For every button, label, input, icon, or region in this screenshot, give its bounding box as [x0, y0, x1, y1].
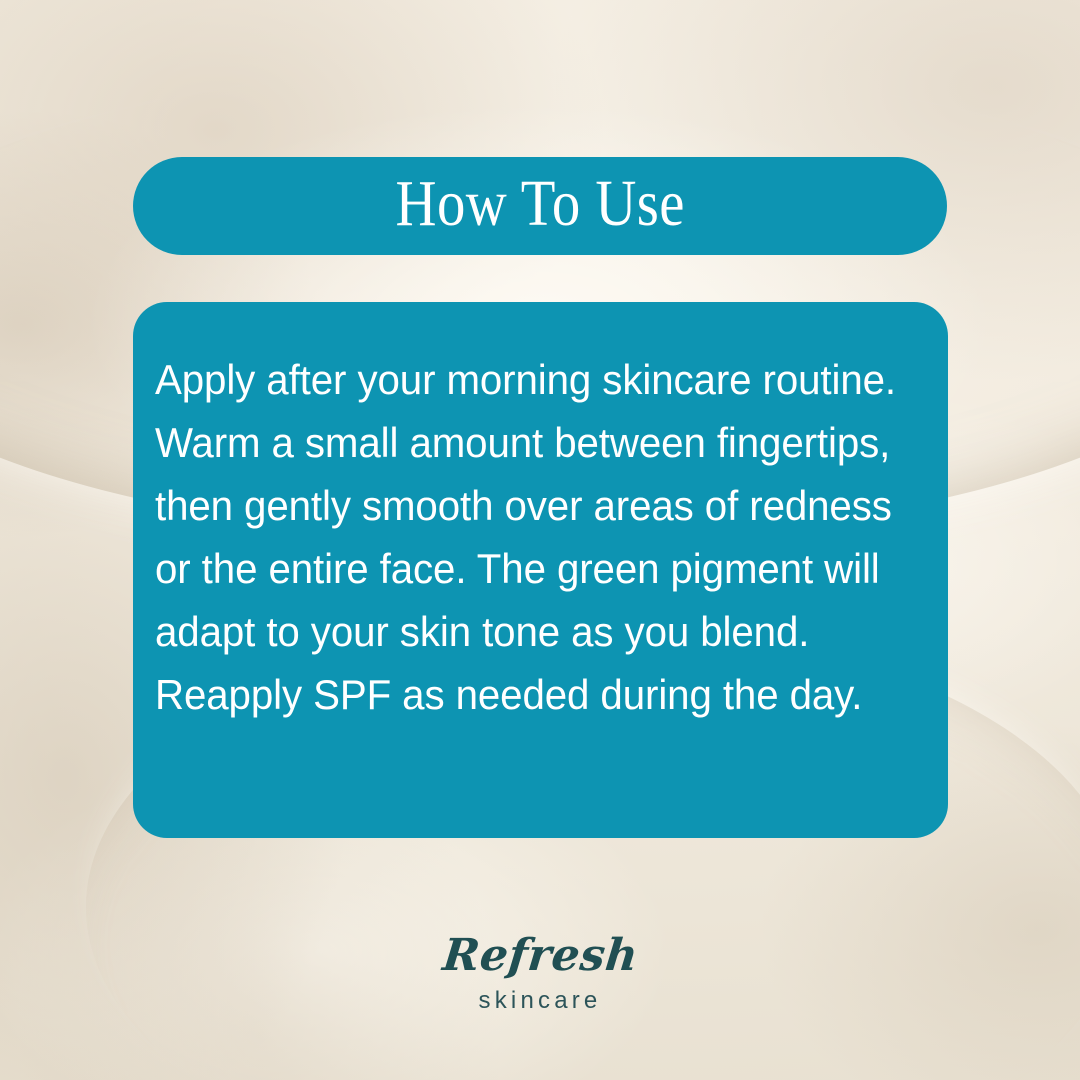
brand-tagline: skincare	[0, 988, 1080, 1014]
title-pill: How To Use	[133, 157, 947, 255]
brand-name: Refresh	[440, 932, 640, 980]
page-title: How To Use	[395, 171, 684, 241]
content-stack: How To Use Apply after your morning skin…	[0, 0, 1080, 1080]
brand-logo: Refresh skincare	[0, 932, 1080, 1014]
poster-canvas: How To Use Apply after your morning skin…	[0, 0, 1080, 1080]
instructions-panel: Apply after your morning skincare routin…	[133, 302, 948, 838]
instructions-text: Apply after your morning skincare routin…	[155, 348, 901, 726]
